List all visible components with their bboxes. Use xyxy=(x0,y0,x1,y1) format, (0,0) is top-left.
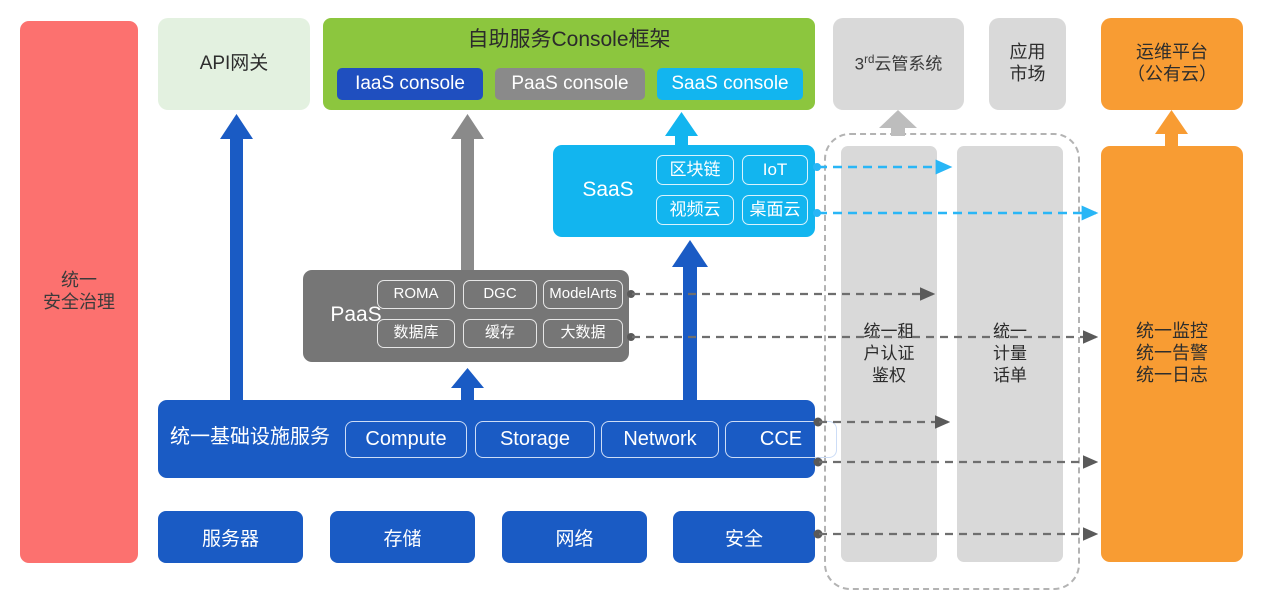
paas-service-database[interactable]: 数据库 xyxy=(377,319,455,348)
paas-service-cache[interactable]: 缓存 xyxy=(463,319,537,348)
paas-service-dgc[interactable]: DGC xyxy=(463,280,537,309)
iaas-console-label: IaaS console xyxy=(355,72,465,95)
infra-service-label: Network xyxy=(623,427,696,451)
saas-layer-label: SaaS xyxy=(565,177,651,203)
ops-platform-public-cloud-box: 运维平台 （公有云） xyxy=(1101,18,1243,110)
paas-service-label: ModelArts xyxy=(549,285,617,303)
hardware-server-box: 服务器 xyxy=(158,511,303,563)
saas-service-desktop-cloud[interactable]: 桌面云 xyxy=(742,195,808,225)
unified-infrastructure-service-bar: 统一基础设施服务 Compute Storage Network CCE xyxy=(158,400,815,478)
arrow-infra-to-api-gateway xyxy=(220,114,253,400)
third-party-cloud-management-box: 3rd云管系统 xyxy=(833,18,964,110)
saas-service-label: 视频云 xyxy=(670,200,721,221)
paas-layer-box: PaaS ROMA DGC ModelArts 数据库 缓存 大数据 xyxy=(303,270,629,362)
architecture-diagram: 统一 安全治理 API网关 自助服务Console框架 IaaS console… xyxy=(0,0,1265,605)
hardware-security-box: 安全 xyxy=(673,511,815,563)
infra-service-storage[interactable]: Storage xyxy=(475,421,595,458)
infra-service-compute[interactable]: Compute xyxy=(345,421,467,458)
saas-service-label: IoT xyxy=(763,160,788,181)
console-framework-title: 自助服务Console框架 xyxy=(323,27,815,53)
saas-service-blockchain[interactable]: 区块链 xyxy=(656,155,734,185)
unified-security-governance-label: 统一 安全治理 xyxy=(43,270,115,314)
unified-infrastructure-service-label: 统一基础设施服务 xyxy=(170,425,330,449)
paas-service-modelarts[interactable]: ModelArts xyxy=(543,280,623,309)
arrow-infra-to-paas xyxy=(451,368,484,400)
saas-console-label: SaaS console xyxy=(671,72,788,95)
paas-service-roma[interactable]: ROMA xyxy=(377,280,455,309)
unified-tenant-auth-label: 统一租 户认证 鉴权 xyxy=(864,321,915,387)
hardware-network-box: 网络 xyxy=(502,511,647,563)
unified-tenant-auth-column: 统一租 户认证 鉴权 xyxy=(841,146,937,562)
arrow-ops-panel-to-ops-platform xyxy=(1155,110,1188,146)
infra-service-label: CCE xyxy=(760,427,802,451)
arrow-paas-to-console xyxy=(451,114,484,270)
paas-console-chip[interactable]: PaaS console xyxy=(495,68,645,100)
third-party-superscript: rd xyxy=(864,54,874,66)
paas-service-label: DGC xyxy=(483,285,516,303)
app-market-box: 应用 市场 xyxy=(989,18,1066,110)
iaas-console-chip[interactable]: IaaS console xyxy=(337,68,483,100)
hardware-label: 服务器 xyxy=(202,524,259,551)
infra-service-label: Storage xyxy=(500,427,570,451)
paas-service-label: 数据库 xyxy=(393,324,438,342)
unified-monitoring-alarm-log-label: 统一监控 统一告警 统一日志 xyxy=(1136,321,1208,387)
arrow-infra-to-saas xyxy=(672,240,708,400)
infra-service-label: Compute xyxy=(365,427,446,451)
app-market-label: 应用 市场 xyxy=(1010,42,1046,86)
paas-service-label: 缓存 xyxy=(485,324,515,342)
saas-service-label: 桌面云 xyxy=(750,200,801,221)
unified-monitoring-alarm-log-panel: 统一监控 统一告警 统一日志 xyxy=(1101,146,1243,562)
api-gateway-box: API网关 xyxy=(158,18,310,110)
saas-layer-box: SaaS 区块链 IoT 视频云 桌面云 xyxy=(553,145,815,237)
saas-service-video-cloud[interactable]: 视频云 xyxy=(656,195,734,225)
hardware-storage-box: 存储 xyxy=(330,511,475,563)
saas-service-iot[interactable]: IoT xyxy=(742,155,808,185)
paas-service-label: 大数据 xyxy=(560,324,605,342)
paas-console-label: PaaS console xyxy=(511,72,628,95)
third-party-cloud-management-label: 3rd云管系统 xyxy=(855,53,943,75)
infra-service-network[interactable]: Network xyxy=(601,421,719,458)
hardware-label: 网络 xyxy=(555,524,593,551)
unified-metering-billing-column: 统一 计量 话单 xyxy=(957,146,1063,562)
infra-service-cce[interactable]: CCE xyxy=(725,421,837,458)
self-service-console-framework: 自助服务Console框架 IaaS console PaaS console … xyxy=(323,18,815,110)
arrow-saas-to-console xyxy=(665,112,698,145)
hardware-label: 安全 xyxy=(725,524,763,551)
ops-platform-public-cloud-label: 运维平台 （公有云） xyxy=(1127,42,1217,86)
api-gateway-label: API网关 xyxy=(200,52,269,75)
paas-service-bigdata[interactable]: 大数据 xyxy=(543,319,623,348)
saas-console-chip[interactable]: SaaS console xyxy=(657,68,803,100)
saas-service-label: 区块链 xyxy=(670,160,721,181)
hardware-label: 存储 xyxy=(383,524,421,551)
unified-security-governance-panel: 统一 安全治理 xyxy=(20,21,138,563)
paas-service-label: ROMA xyxy=(394,285,439,303)
unified-metering-billing-label: 统一 计量 话单 xyxy=(993,321,1027,387)
